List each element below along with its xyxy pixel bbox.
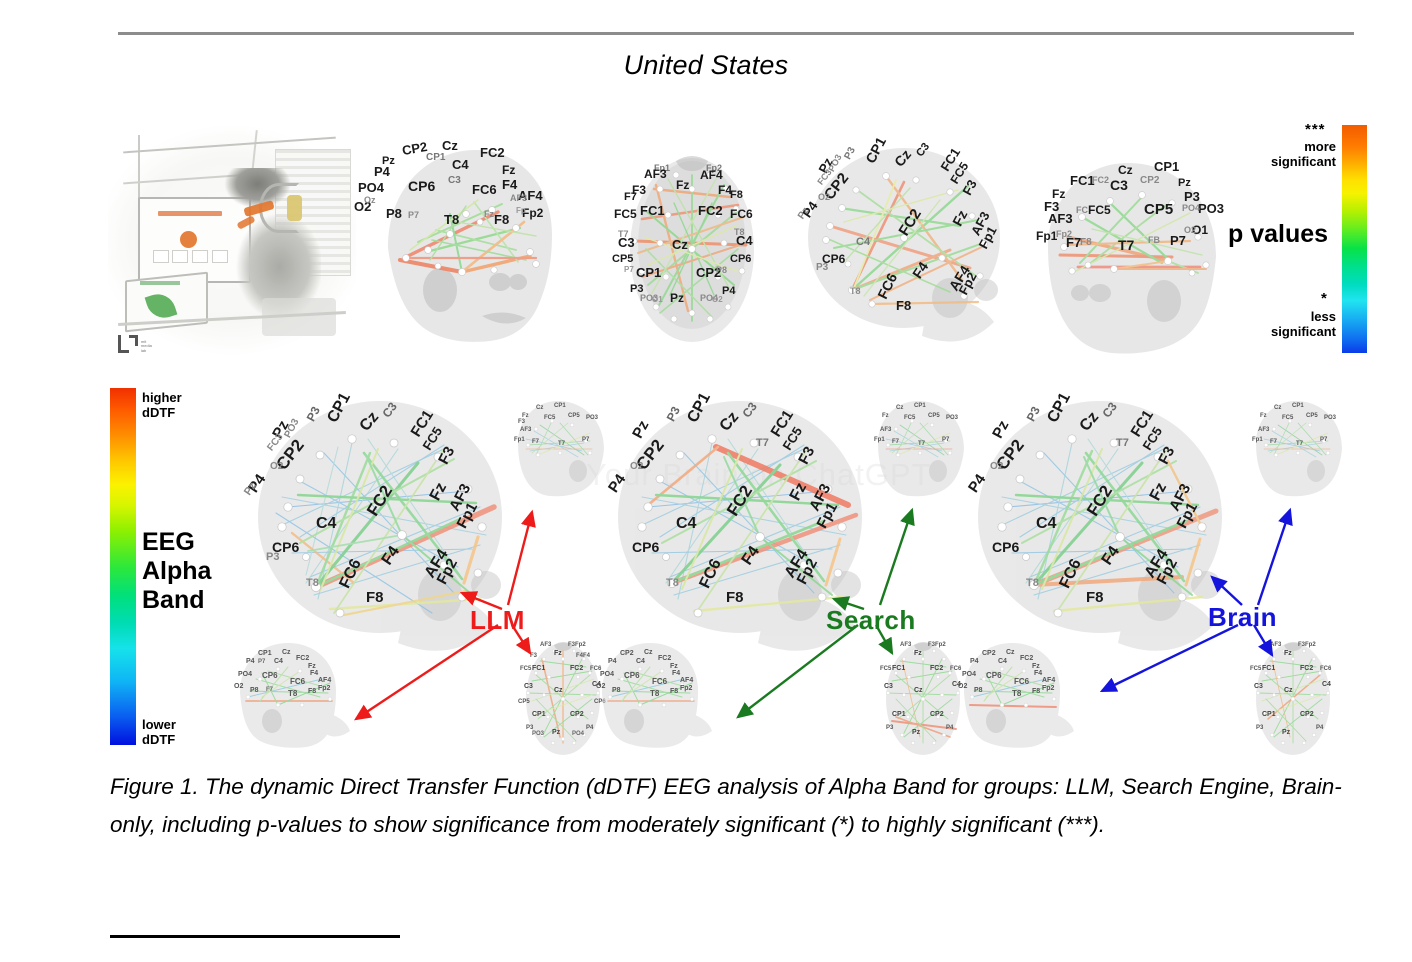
p-top-line1: more bbox=[1246, 139, 1336, 154]
brain-view-search-profile: CP2 Cz P4 C4 FC2 Fz PO4 CP6 F4 FC6 AF4 O… bbox=[594, 635, 744, 755]
head-model bbox=[1246, 633, 1341, 761]
group-label-llm: LLM bbox=[470, 605, 525, 636]
footnote-separator bbox=[110, 935, 400, 938]
alpha-title-line3: Band bbox=[142, 586, 211, 615]
p-values-bottom-stars: * bbox=[1321, 290, 1328, 307]
head-model bbox=[370, 130, 570, 360]
colorbar-gradient bbox=[1342, 125, 1367, 353]
p-values-title: p values bbox=[1228, 220, 1328, 249]
brain-view-brain-large: CP1 P3 Pz Cz C3 FC1 FC5 F3 CP2 P4 O2 FC2… bbox=[968, 387, 1258, 677]
mit-media-lab-logo: mit media lab bbox=[118, 335, 152, 353]
brain-view-llm-profile: CP1 Cz P4 P7 C4 FC2 Fz PO4 CP6 F4 FC6 AF… bbox=[232, 635, 382, 755]
colorbar-gradient bbox=[110, 388, 136, 745]
figure-1: Your Brain on ChatGPT bbox=[0, 105, 1412, 765]
alpha-title: EEG Alpha Band bbox=[142, 528, 211, 615]
alpha-bottom-line2: dDTF bbox=[142, 732, 176, 747]
brain-view-top-right-profile: CP2 Pz Cz FC2 P4 CP1 C4 C3 Fz PO4 CP6 FC… bbox=[370, 130, 570, 360]
p-top-line2: significant bbox=[1246, 154, 1336, 169]
brain-view-top-axial: Fp1 Fp2 AF3 AF4 Fz F3 F4 F7 F8 FC1 FC2 F… bbox=[612, 145, 772, 350]
head-model bbox=[1244, 393, 1354, 503]
p-bottom-line1: less bbox=[1246, 309, 1336, 324]
brain-view-brain-axial: AF3 F3Fp2 Fz FC1 FC2 FC5 FC6 C3 C4 Cz CP… bbox=[1246, 633, 1341, 761]
p-bottom-line2: significant bbox=[1246, 324, 1336, 339]
p-values-top-label: more significant bbox=[1246, 139, 1336, 169]
colorbar-eeg-alpha-band bbox=[110, 388, 136, 745]
head-model bbox=[232, 635, 382, 755]
head-model bbox=[968, 387, 1258, 677]
p-values-top-stars: *** bbox=[1305, 121, 1326, 138]
brain-view-top-oblique-right: CP1 P3 Pz PO3 Cz C3 FC1 FC5 F3 CP2 FC3 P… bbox=[800, 130, 1030, 365]
logo-line-3: lab bbox=[141, 349, 152, 354]
group-label-search: Search bbox=[826, 605, 916, 636]
brain-view-top-left-profile: FC1 Cz CP1 FC2 C3 CP2 Fz F3 Pz P3 CP5 FC… bbox=[1022, 145, 1234, 360]
brain-view-brain-profile: CP2 Cz P4 C4 FC2 Fz PO4 CP6 F4 FC6 AF4 O… bbox=[956, 635, 1106, 755]
brain-view-search-small: Cz CP1 Fz FC5 CP5 PO3 AF3 Fp1 F7 T7 P7 bbox=[866, 393, 976, 503]
figure-caption: Figure 1. The dynamic Direct Transfer Fu… bbox=[110, 768, 1368, 844]
alpha-top-line1: higher bbox=[142, 390, 182, 405]
participant-eeg-sketch: mit media lab bbox=[108, 125, 356, 365]
alpha-bottom-label: lower dDTF bbox=[142, 717, 176, 747]
brain-view-brain-small: Cz CP1 Fz FC5 CP5 PO3 AF3 Fp1 F7 T7 P7 bbox=[1244, 393, 1354, 503]
header-divider bbox=[118, 32, 1354, 35]
colorbar-p-values bbox=[1342, 125, 1367, 353]
head-model bbox=[956, 635, 1106, 755]
figure-page: United States Your Brain on ChatGPT bbox=[0, 0, 1412, 962]
alpha-top-line2: dDTF bbox=[142, 405, 182, 420]
p-values-bottom-label: less significant bbox=[1246, 309, 1336, 339]
brain-view-llm-small: Cz CP1 Fz F3 FC5 CP5 PO3 AF3 Fp1 F7 T7 P… bbox=[506, 393, 616, 503]
head-model bbox=[506, 393, 616, 503]
group-label-brain: Brain bbox=[1208, 602, 1277, 633]
page-title: United States bbox=[0, 50, 1412, 81]
head-model bbox=[594, 635, 744, 755]
head-model bbox=[866, 393, 976, 503]
alpha-title-line2: Alpha bbox=[142, 557, 211, 586]
alpha-bottom-line1: lower bbox=[142, 717, 176, 732]
alpha-top-label: higher dDTF bbox=[142, 390, 182, 420]
header-crumb bbox=[246, 0, 446, 8]
alpha-title-line1: EEG bbox=[142, 528, 211, 557]
